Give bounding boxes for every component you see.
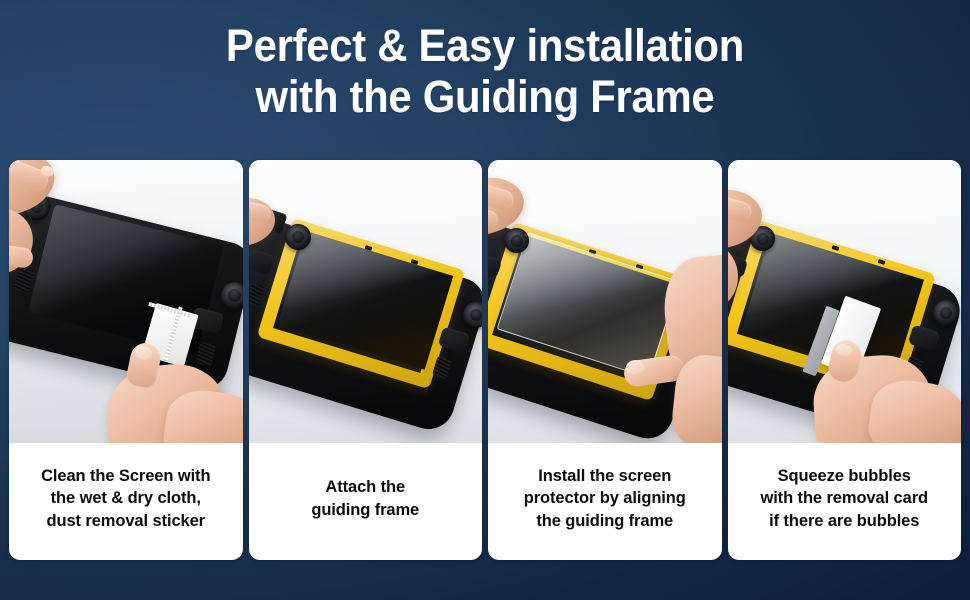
step-caption-1: Clean the Screen with the wet & dry clot… (9, 443, 243, 560)
step-caption-2-line-2: guiding frame (311, 499, 419, 522)
step-image-1 (9, 160, 243, 443)
step-caption-1-line-3: dust removal sticker (41, 510, 210, 533)
step-card-4: Squeeze bubbles with the removal card if… (728, 160, 962, 560)
step-caption-4: Squeeze bubbles with the removal card if… (728, 443, 962, 560)
step-card-2: Attach the guiding frame (249, 160, 483, 560)
step-caption-3: Install the screen protector by aligning… (488, 443, 722, 560)
page-title: Perfect & Easy installation with the Gui… (34, 20, 936, 122)
step-caption-2: Attach the guiding frame (249, 443, 483, 560)
step-caption-3-line-2: protector by aligning (524, 487, 686, 510)
step-caption-3-line-3: the guiding frame (524, 510, 686, 533)
step-caption-3-line-1: Install the screen (524, 465, 686, 488)
step-card-strip: Clean the Screen with the wet & dry clot… (9, 160, 961, 560)
step-caption-4-line-1: Squeeze bubbles (760, 465, 928, 488)
step-caption-4-line-3: if there are bubbles (760, 510, 928, 533)
step-card-3: Install the screen protector by aligning… (488, 160, 722, 560)
step-image-3 (488, 160, 722, 443)
step-caption-1-line-2: the wet & dry cloth, (41, 487, 210, 510)
step-caption-4-line-2: with the removal card (760, 487, 928, 510)
step-image-2 (249, 160, 483, 443)
page-title-line-2: with the Guiding Frame (34, 71, 936, 122)
step-caption-2-line-1: Attach the (311, 476, 419, 499)
step-caption-1-line-1: Clean the Screen with (41, 465, 210, 488)
step-image-4 (728, 160, 962, 443)
promo-banner: Perfect & Easy installation with the Gui… (0, 0, 970, 600)
step-card-1: Clean the Screen with the wet & dry clot… (9, 160, 243, 560)
page-title-line-1: Perfect & Easy installation (226, 20, 744, 71)
